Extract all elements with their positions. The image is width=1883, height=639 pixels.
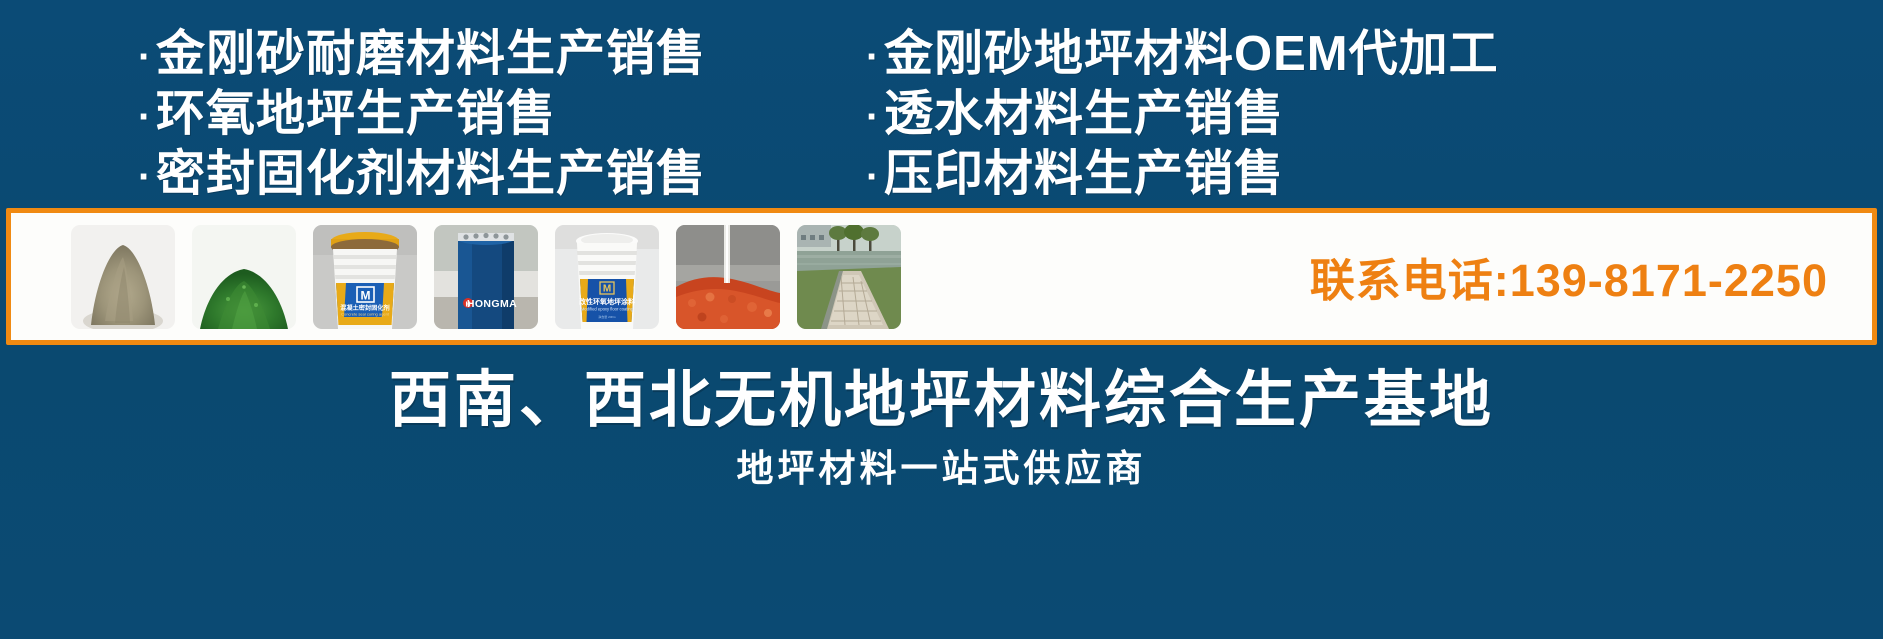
feature-label: 压印材料生产销售 — [884, 146, 1284, 203]
bullet-dot-icon: · — [138, 29, 156, 86]
bullet-dot-icon: · — [866, 149, 884, 206]
feature-item: · 压印材料生产销售 — [866, 146, 1626, 206]
feature-item: · 金刚砂地坪材料OEM代加工 — [866, 26, 1626, 86]
bottom-headline-block: 西南、西北无机地坪材料综合生产基地 地坪材料一站式供应商 — [0, 345, 1883, 493]
feature-list: · 金刚砂耐磨材料生产销售 · 环氧地坪生产销售 · 密封固化剂材料生产销售 ·… — [0, 0, 1883, 205]
feature-item: · 密封固化剂材料生产销售 — [138, 146, 858, 206]
bullet-dot-icon: · — [866, 89, 884, 146]
feature-label: 环氧地坪生产销售 — [156, 86, 556, 143]
page-title: 西南、西北无机地坪材料综合生产基地 — [0, 363, 1883, 439]
photo-epoxy-bucket: M 改性环氧地坪涂料 Modified epoxy floor coating … — [555, 225, 659, 329]
svg-text:Modified epoxy floor coating: Modified epoxy floor coating — [581, 306, 634, 311]
photo-stamped-path — [797, 225, 901, 329]
product-photo-gallery: M 混凝土密封固化剂 Concrete seal curing agent — [71, 225, 901, 329]
photo-sealer-bucket: M 混凝土密封固化剂 Concrete seal curing agent — [313, 225, 417, 329]
feature-label: 金刚砂耐磨材料生产销售 — [156, 26, 706, 83]
feature-item: · 环氧地坪生产销售 — [138, 86, 858, 146]
feature-label: 密封固化剂材料生产销售 — [156, 146, 706, 203]
svg-text:改性环氧地坪涂料: 改性环氧地坪涂料 — [579, 297, 635, 306]
svg-text:HONGMA: HONGMA — [467, 298, 517, 310]
feature-column-left: · 金刚砂耐磨材料生产销售 · 环氧地坪生产销售 · 密封固化剂材料生产销售 — [138, 26, 858, 205]
product-strip: M 混凝土密封固化剂 Concrete seal curing agent — [6, 208, 1877, 345]
feature-column-right: · 金刚砂地坪材料OEM代加工 · 透水材料生产销售 · 压印材料生产销售 — [866, 26, 1626, 205]
feature-item: · 透水材料生产销售 — [866, 86, 1626, 146]
photo-green-powder — [192, 225, 296, 329]
promo-banner: · 金刚砂耐磨材料生产销售 · 环氧地坪生产销售 · 密封固化剂材料生产销售 ·… — [0, 0, 1883, 639]
feature-item: · 金刚砂耐磨材料生产销售 — [138, 26, 858, 86]
bullet-dot-icon: · — [138, 149, 156, 206]
svg-text:净含量 20KG: 净含量 20KG — [598, 314, 616, 319]
photo-emery-powder — [71, 225, 175, 329]
photo-hongma-drum: H HONGMA — [434, 225, 538, 329]
feature-label: 金刚砂地坪材料OEM代加工 — [884, 26, 1499, 83]
svg-text:M: M — [361, 288, 371, 302]
bullet-dot-icon: · — [138, 89, 156, 146]
contact-phone[interactable]: 联系电话:139-8171-2250 — [1310, 244, 1828, 309]
page-subtitle: 地坪材料一站式供应商 — [0, 445, 1883, 493]
photo-permeable-paving — [676, 225, 780, 329]
svg-text:M: M — [603, 283, 611, 294]
svg-text:Concrete seal curing agent: Concrete seal curing agent — [341, 311, 390, 316]
bullet-dot-icon: · — [866, 29, 884, 86]
feature-label: 透水材料生产销售 — [884, 86, 1284, 143]
